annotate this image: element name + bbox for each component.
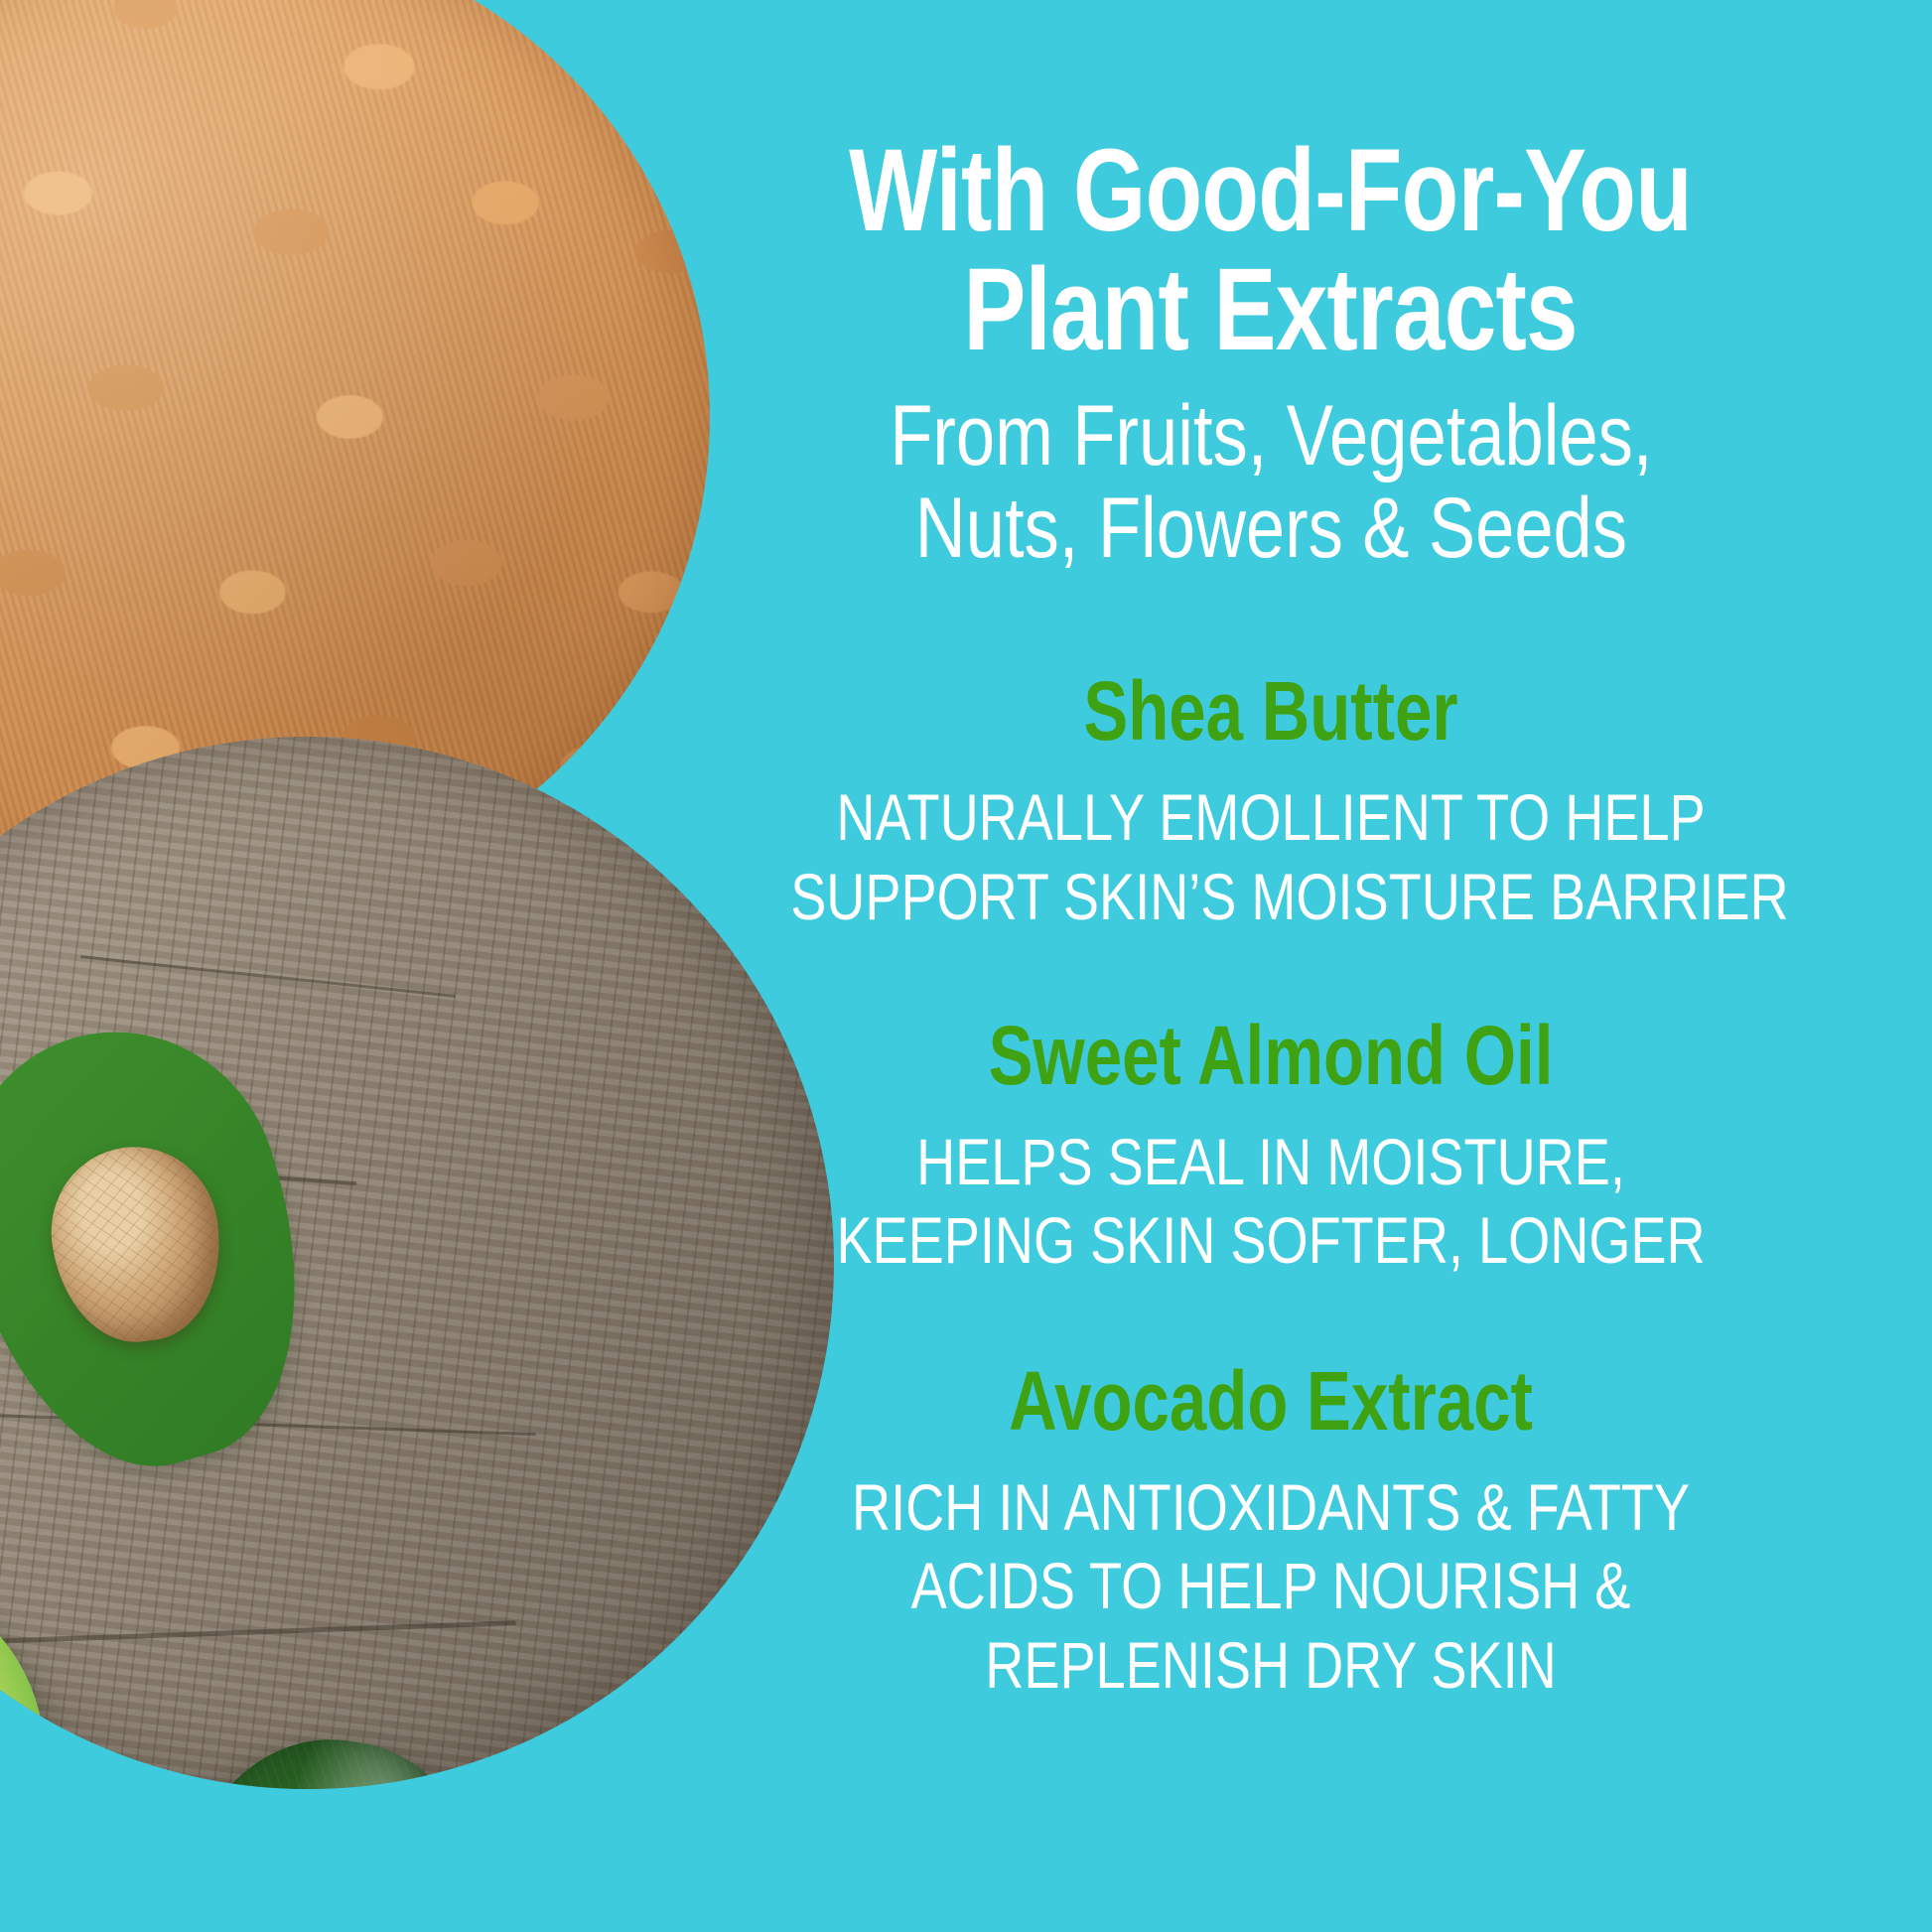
copy-column: With Good-For-You Plant Extracts From Fr… [685,0,1857,1932]
ingredient-description-line: REPLENISH DRY SKIN [790,1626,1751,1705]
ingredient-name-avocado-extract: Avocado Extract [802,1359,1739,1443]
ingredient-description-sweet-almond-oil: HELPS SEAL IN MOISTURE, KEEPING SKIN SOF… [790,1123,1751,1280]
ingredient-description-line: ACIDS TO HELP NOURISH & [790,1547,1751,1625]
ingredient-block-shea-butter: Shea Butter NATURALLY EMOLLIENT TO HELP … [685,669,1857,935]
ingredient-description-line: SUPPORT SKIN’S MOISTURE BARRIER [790,858,1751,936]
headline-line-1: With Good-For-You [850,125,1693,256]
page-title: With Good-For-You Plant Extracts [850,131,1693,370]
ingredient-block-avocado-extract: Avocado Extract RICH IN ANTIOXIDANTS & F… [685,1359,1857,1705]
wood-grain-crack [80,955,456,998]
ingredient-description-avocado-extract: RICH IN ANTIOXIDANTS & FATTY ACIDS TO HE… [790,1468,1751,1705]
wood-grain-crack [0,1620,516,1645]
headline-line-2: Plant Extracts [850,250,1693,369]
ingredient-name-shea-butter: Shea Butter [802,669,1739,753]
ingredient-description-line: NATURALLY EMOLLIENT TO HELP [790,778,1751,857]
subtitle-line-1: From Fruits, Vegetables, [890,390,1652,483]
ingredient-description-line: KEEPING SKIN SOFTER, LONGER [790,1201,1751,1280]
avocado-half-hollow [0,1543,102,1789]
promo-graphic: With Good-For-You Plant Extracts From Fr… [0,0,1932,1932]
ingredient-description-line: RICH IN ANTIOXIDANTS & FATTY [790,1468,1751,1547]
subtitle: From Fruits, Vegetables, Nuts, Flowers &… [890,390,1652,575]
ingredient-name-sweet-almond-oil: Sweet Almond Oil [802,1014,1739,1097]
ingredient-description-shea-butter: NATURALLY EMOLLIENT TO HELP SUPPORT SKIN… [790,778,1751,935]
ingredient-description-line: HELPS SEAL IN MOISTURE, [790,1123,1751,1201]
ingredient-block-sweet-almond-oil: Sweet Almond Oil HELPS SEAL IN MOISTURE,… [685,1014,1857,1280]
whole-avocado [147,1720,498,1789]
subtitle-line-2: Nuts, Flowers & Seeds [890,483,1652,575]
